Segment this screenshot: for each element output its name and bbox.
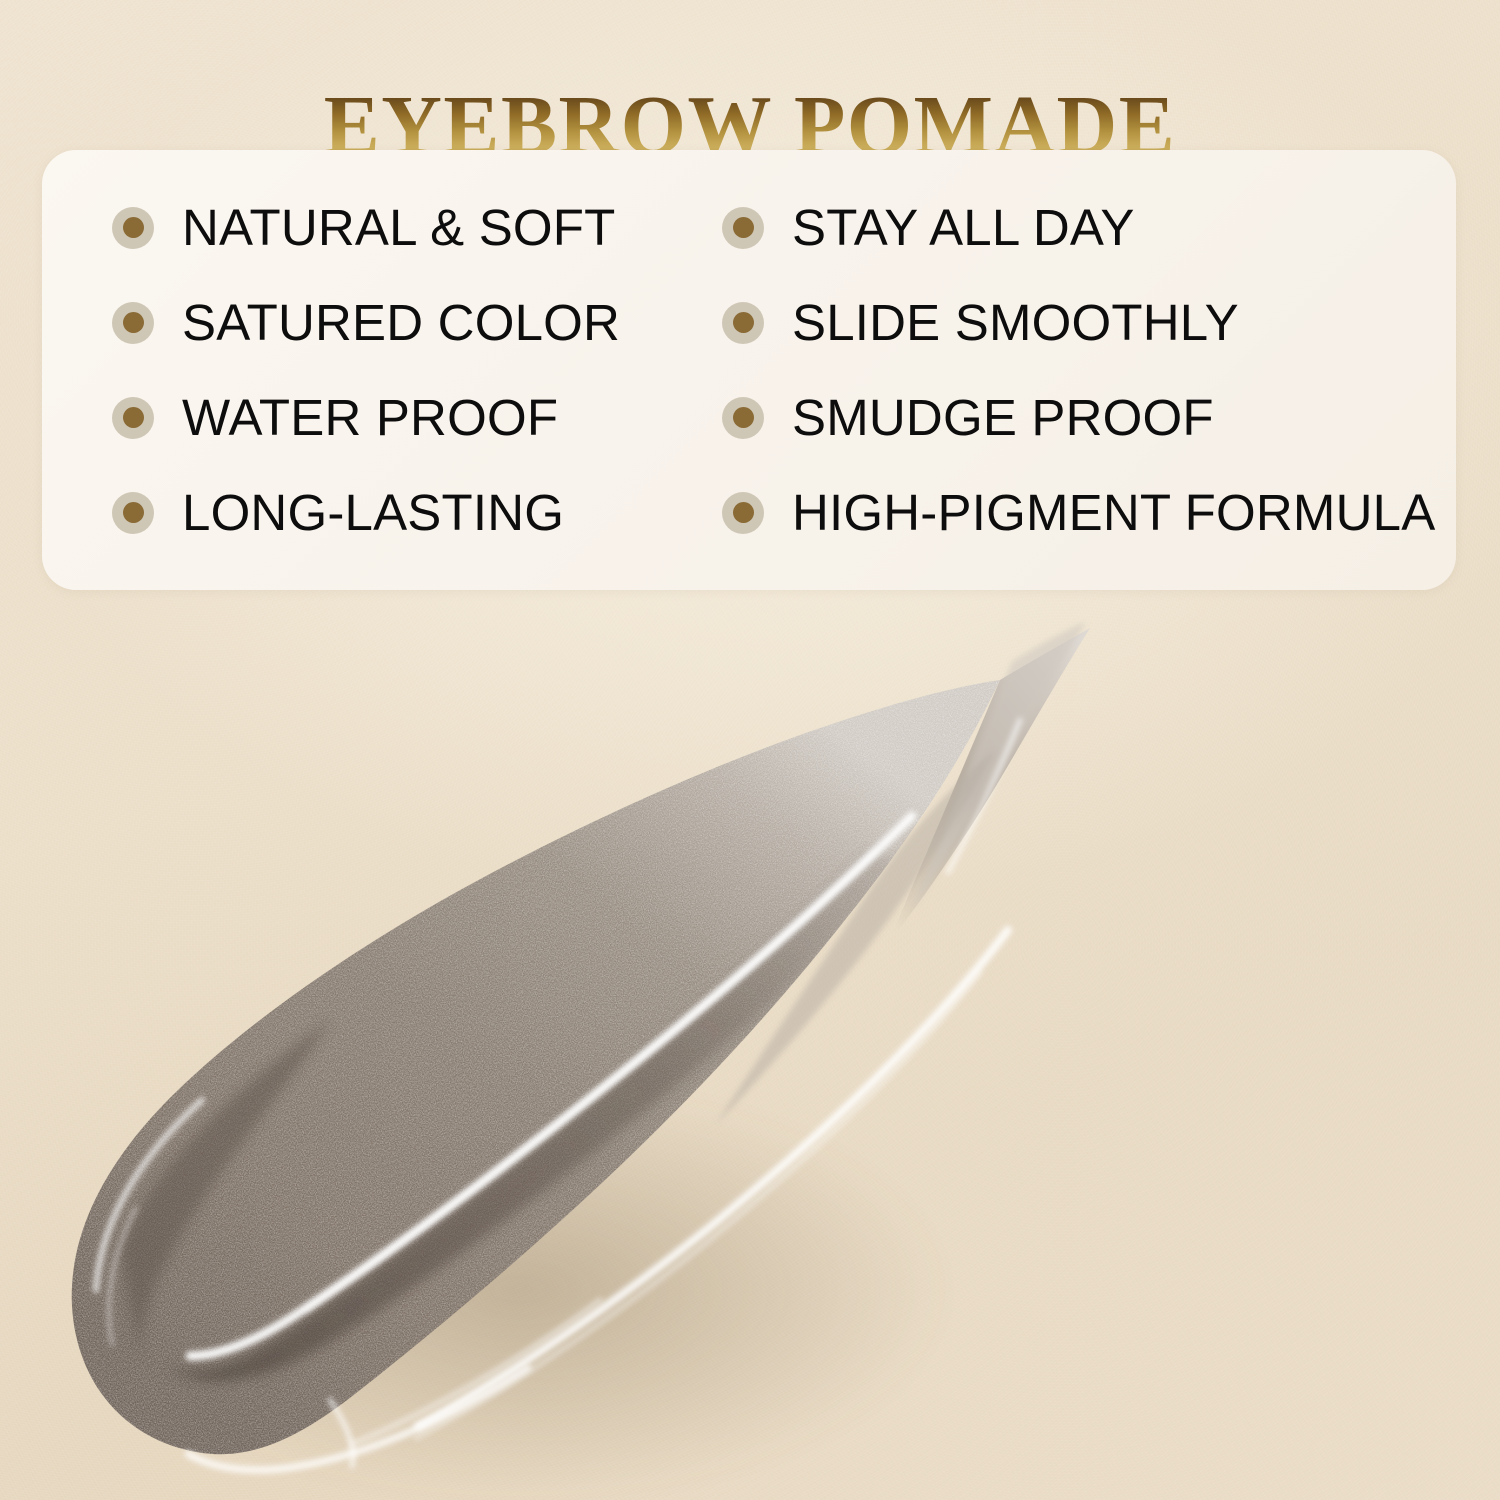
feature-label: NATURAL & SOFT [182,202,616,253]
feature-row: SATURED COLOR SLIDE SMOOTHLY [112,275,1420,370]
feature-item-natural-soft: NATURAL & SOFT [112,202,722,253]
feature-label: LONG-LASTING [182,487,564,538]
feature-item-slide-smoothly: SLIDE SMOOTHLY [722,297,1420,348]
bullet-dot-icon [722,302,764,344]
bullet-dot-icon [722,492,764,534]
bullet-dot-icon [112,492,154,534]
feature-item-smudge-proof: SMUDGE PROOF [722,392,1420,443]
feature-list-card: NATURAL & SOFT STAY ALL DAY SATURED COLO… [42,150,1456,590]
feature-item-long-lasting: LONG-LASTING [112,487,722,538]
feature-item-water-proof: WATER PROOF [112,392,722,443]
feature-item-satured-color: SATURED COLOR [112,297,722,348]
feature-label: SLIDE SMOOTHLY [792,297,1239,348]
bullet-dot-icon [722,397,764,439]
product-banner-page: EYEBROW POMADE NATURAL & SOFT STAY ALL D… [0,0,1500,1500]
bullet-dot-icon [112,302,154,344]
feature-item-high-pigment-formula: HIGH-PIGMENT FORMULA [722,487,1435,538]
feature-row: NATURAL & SOFT STAY ALL DAY [112,180,1420,275]
bullet-dot-icon [112,397,154,439]
feature-label: SATURED COLOR [182,297,620,348]
feature-label: SMUDGE PROOF [792,392,1214,443]
feature-row: LONG-LASTING HIGH-PIGMENT FORMULA [112,465,1420,560]
feature-label: STAY ALL DAY [792,202,1135,253]
pomade-swatch-illustration [0,600,1500,1500]
bullet-dot-icon [722,207,764,249]
feature-label: WATER PROOF [182,392,558,443]
feature-label: HIGH-PIGMENT FORMULA [792,487,1435,538]
product-swatch-image [0,600,1500,1500]
bullet-dot-icon [112,207,154,249]
feature-item-stay-all-day: STAY ALL DAY [722,202,1420,253]
feature-row: WATER PROOF SMUDGE PROOF [112,370,1420,465]
